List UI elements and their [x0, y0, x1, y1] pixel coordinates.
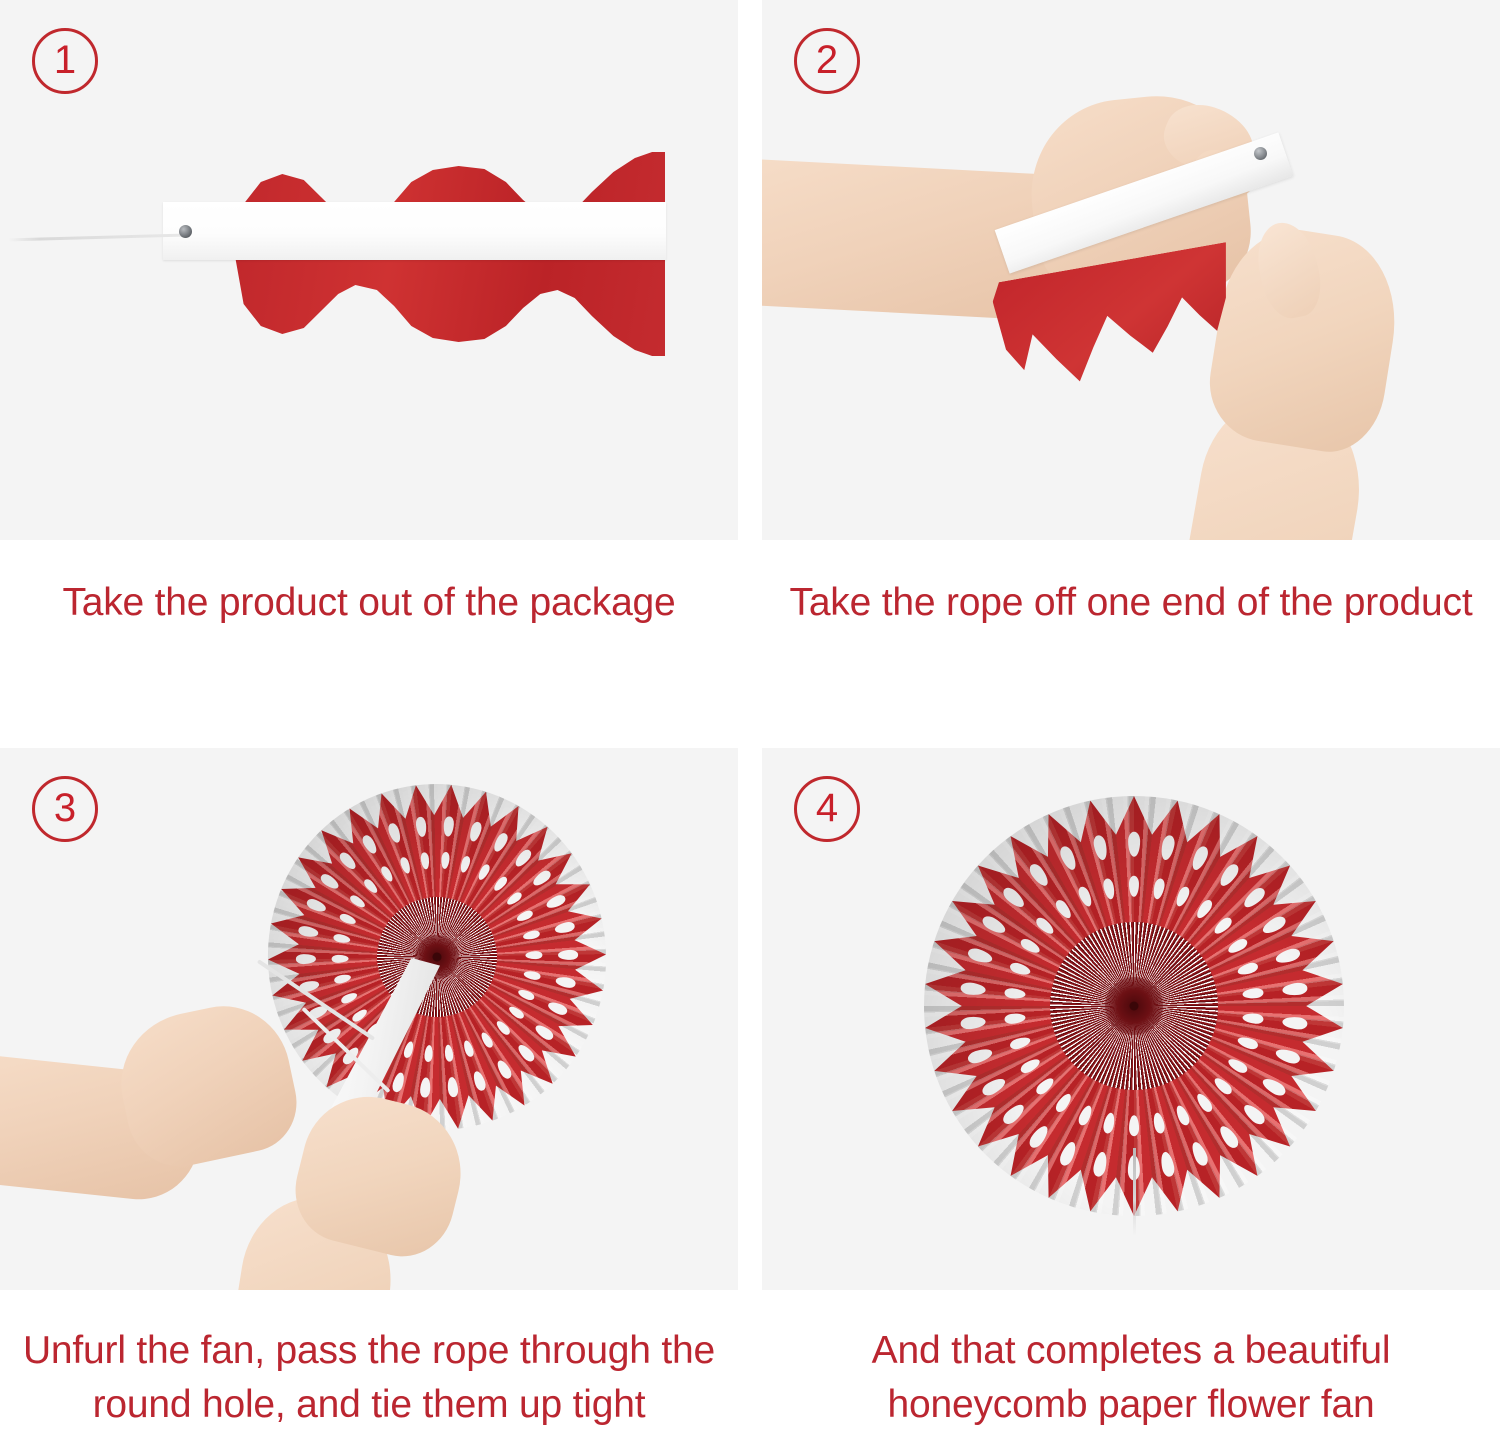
fan-cutout-hole [1174, 1104, 1192, 1127]
step-panel-2: 2 [762, 0, 1500, 540]
fan-cutout-hole [1242, 987, 1264, 999]
fan-cutout-hole [1092, 1151, 1109, 1178]
fan-cutout-hole [1282, 982, 1308, 996]
step-panel-4: 4 [762, 748, 1500, 1290]
fan-cutout-hole [1217, 862, 1241, 889]
step-number-2: 2 [816, 40, 838, 80]
fan-cutout-hole [1058, 844, 1079, 872]
fan-cutout-hole [443, 816, 454, 837]
fan-cutout-hole [476, 863, 491, 882]
fan-cutout-hole [966, 947, 994, 966]
fan-cutout-hole [350, 1007, 368, 1024]
fan-cutout-hole [513, 847, 534, 869]
fan-cutout-hole [348, 893, 367, 909]
fan-cutout-hole [522, 929, 540, 941]
fan-cutout-hole [1019, 1056, 1042, 1075]
fan-cutout-hole [444, 1044, 454, 1062]
fan-cutout-hole [517, 988, 536, 1002]
step-caption-block-2: Take the rope off one end of the product [762, 540, 1500, 748]
fan-cutout-hole [402, 1040, 415, 1059]
step-caption-2: Take the rope off one end of the product [790, 576, 1473, 630]
fan-cutout-hole [379, 865, 395, 884]
step-photo-2: 2 [762, 0, 1500, 540]
fan-cutout-hole [544, 893, 567, 910]
fan-cutout-hole [1236, 961, 1259, 977]
fan-cutout-hole [1053, 1091, 1073, 1114]
fan-cutout-hole [546, 1000, 568, 1017]
white-cardboard-strip [163, 202, 666, 260]
fan-cutout-hole [332, 954, 349, 962]
fan-cutout-hole [391, 1071, 406, 1093]
fan-cutout-hole [305, 897, 327, 914]
fan-cutout-hole [555, 975, 577, 988]
fan-cutout-hole [531, 868, 553, 888]
fan-cutout-hole [1058, 1140, 1079, 1168]
caption-area-1: Take the product out of the package [0, 540, 738, 630]
fan-cutout-hole [1027, 1123, 1051, 1150]
fan-cutout-hole [505, 890, 523, 907]
steps-grid: 1 Take the product out of the package [0, 0, 1500, 1433]
fan-cutout-hole [337, 851, 358, 872]
fan-cutout-hole [319, 872, 341, 891]
fan-cutout-hole [1053, 898, 1073, 921]
step-caption-block-3: Unfurl the fan, pass the rope through th… [0, 1290, 738, 1433]
fan-cutout-hole [1034, 915, 1056, 937]
fan-cutout-hole [1001, 1101, 1028, 1127]
fan-cutout-hole [441, 852, 451, 870]
fan-cutout-hole [525, 951, 542, 959]
fan-cutout-hole [515, 909, 534, 924]
fan-cutout-hole [1102, 878, 1116, 901]
step-badge-2: 2 [794, 28, 860, 94]
fan-cutout-hole [1242, 1012, 1264, 1024]
fan-cutout-hole [1260, 914, 1288, 937]
paper-fan-partially-open [248, 765, 626, 1150]
fan-cutout-hole [1129, 1115, 1139, 1136]
fan-cutout-hole [1009, 1035, 1032, 1051]
fan-cutout-hole [494, 1019, 512, 1037]
fan-cutout-hole [960, 1016, 986, 1030]
step-caption-4: And that completes a beautiful honeycomb… [872, 1324, 1391, 1432]
fan-cutout-hole [338, 912, 357, 926]
step-caption-3: Unfurl the fan, pass the rope through th… [23, 1324, 715, 1432]
step-panel-1: 1 [0, 0, 738, 540]
fan-cutout-hole [1236, 1035, 1259, 1051]
fan-cutout-hole [980, 1076, 1008, 1099]
fan-cutout-hole [1274, 1047, 1302, 1066]
fan-cutout-hole [1260, 1075, 1288, 1098]
folded-fan-product [0, 0, 738, 540]
fan-cutout-hole [495, 1058, 514, 1080]
fan-cutout-hole [1076, 1104, 1094, 1127]
fan-cutout-hole [424, 1045, 434, 1063]
fan-cutout-hole [420, 852, 430, 870]
fan-cutout-hole [1194, 898, 1214, 921]
fan-cutout-hole [333, 973, 351, 985]
fan-center-dot [1130, 1002, 1139, 1011]
step-photo-3: 3 [0, 748, 738, 1290]
step-badge-4: 4 [794, 776, 860, 842]
fan-cutout-hole [1092, 834, 1109, 861]
step-badge-1: 1 [32, 28, 98, 94]
fan-cutout-hole [333, 933, 351, 944]
fan-cutout-hole [1009, 961, 1032, 977]
fan-cutout-hole [491, 831, 509, 853]
step-panel-3: 3 [0, 748, 738, 1290]
fan-cutout-hole [1174, 885, 1192, 908]
caption-area-3: Unfurl the fan, pass the rope through th… [0, 1290, 738, 1432]
step-caption-block-1: Take the product out of the package [0, 540, 738, 748]
fan-cutout-hole [1282, 1016, 1308, 1030]
fan-cutout-hole [1274, 947, 1302, 966]
step-number-1: 1 [54, 40, 76, 80]
fan-cutout-hole [468, 821, 483, 843]
caption-area-2: Take the rope off one end of the product [762, 540, 1500, 630]
fan-cutout-hole [1128, 832, 1140, 857]
fan-cutout-hole [387, 822, 403, 844]
fan-cutout-hole [1217, 1123, 1241, 1150]
fan-cutout-hole [399, 856, 412, 875]
fan-cutout-hole [1027, 862, 1051, 889]
fan-cutout-hole [340, 991, 359, 1006]
fan-cutout-hole [360, 834, 379, 856]
fan-cutout-hole [960, 982, 986, 996]
instruction-sheet: 1 Take the product out of the package [0, 0, 1500, 1433]
fan-cutout-hole [1212, 915, 1234, 937]
fan-cutout-hole [1212, 1075, 1234, 1097]
fan-cutout-hole [516, 1042, 537, 1063]
fan-cutout-hole [492, 875, 509, 893]
fan-cutout-hole [462, 1039, 475, 1058]
fan-cutout-hole [533, 1022, 555, 1041]
step-caption-1: Take the product out of the package [62, 576, 675, 630]
fan-cutout-hole [298, 925, 320, 938]
fan-cutout-hole [296, 954, 317, 964]
step-photo-4: 4 [762, 748, 1500, 1290]
fan-cutout-hole [554, 921, 576, 935]
fan-cutout-hole [1226, 1056, 1249, 1075]
step-caption-block-4: And that completes a beautiful honeycomb… [762, 1290, 1500, 1433]
fan-cutout-hole [1152, 878, 1166, 901]
fan-cutout-hole [1194, 1091, 1214, 1114]
fan-cutout-hole [1004, 1012, 1026, 1024]
fan-cutout-hole [1241, 1101, 1268, 1127]
fan-cutout-hole [507, 1004, 526, 1020]
step-number-3: 3 [54, 788, 76, 828]
fan-cutout-hole [1152, 1112, 1166, 1135]
fan-cutout-hole [980, 914, 1008, 937]
step-badge-3: 3 [32, 776, 98, 842]
fan-cutout-hole [1019, 936, 1042, 955]
hanging-rope [8, 234, 184, 242]
grommet-eyelet-icon [179, 225, 192, 238]
fan-cutout-hole [1004, 987, 1026, 999]
hanging-rope [1133, 1148, 1136, 1236]
fan-cutout-hole [420, 1077, 431, 1098]
fan-cutout-hole [362, 877, 380, 895]
fan-cutout-hole [1159, 1151, 1176, 1178]
fan-cutout-hole [415, 816, 427, 837]
fan-cutout-hole [1189, 1140, 1210, 1168]
step-number-4: 4 [816, 788, 838, 828]
grommet-eyelet-icon [1254, 147, 1267, 160]
step-photo-1: 1 [0, 0, 738, 540]
fan-cutout-hole [1102, 1112, 1116, 1135]
fan-cutout-hole [1226, 937, 1249, 956]
caption-area-4: And that completes a beautiful honeycomb… [762, 1290, 1500, 1432]
fan-cutout-hole [558, 950, 579, 960]
fan-cutout-hole [472, 1070, 488, 1092]
fan-cutout-hole [1001, 885, 1028, 911]
fan-cutout-hole [1241, 885, 1268, 911]
fan-cutout-hole [479, 1031, 495, 1050]
folded-fan-bottom-half [235, 256, 665, 356]
fan-cutout-hole [966, 1047, 994, 1066]
fan-cutout-hole [1034, 1075, 1056, 1097]
fan-cutout-hole [523, 970, 541, 981]
fan-cutout-hole [1129, 876, 1139, 897]
fan-cutout-hole [1076, 885, 1094, 908]
fan-cutout-hole [459, 855, 472, 874]
fan-cutout-hole [447, 1076, 459, 1097]
fan-cutout-hole [1159, 834, 1176, 861]
fan-cutout-hole [1189, 844, 1210, 872]
